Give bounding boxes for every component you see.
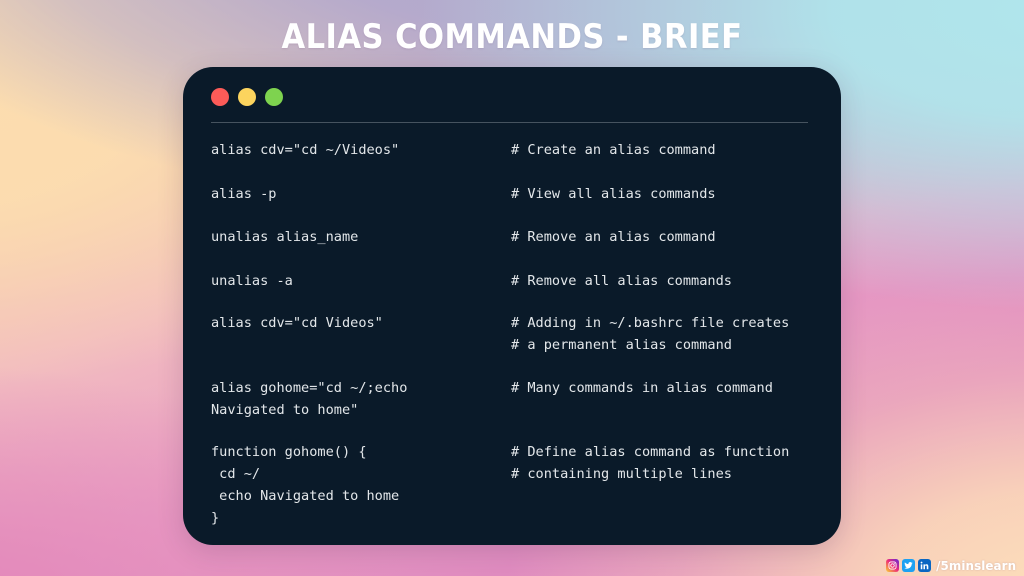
command-text: function gohome() { cd ~/ echo Navigated…	[211, 441, 399, 529]
twitter-icon[interactable]	[902, 559, 915, 572]
linkedin-icon[interactable]	[918, 559, 931, 572]
comment-text: # Define alias command as function # con…	[511, 441, 789, 485]
maximize-button[interactable]	[265, 88, 283, 106]
comment-text: # Remove an alias command	[511, 226, 716, 248]
instagram-icon[interactable]	[886, 559, 899, 572]
command-text: alias gohome="cd ~/;echo Navigated to ho…	[211, 377, 407, 421]
comment-text: # Create an alias command	[511, 139, 716, 161]
comment-text: # Adding in ~/.bashrc file creates # a p…	[511, 312, 789, 356]
command-text: unalias -a	[211, 270, 293, 292]
slide-canvas: ALIAS COMMANDS - BRIEF alias cdv="cd ~/V…	[0, 0, 1024, 576]
comment-text: # Remove all alias commands	[511, 270, 732, 292]
close-button[interactable]	[211, 88, 229, 106]
code-listing: alias cdv="cd ~/Videos"# Create an alias…	[183, 131, 841, 545]
command-text: unalias alias_name	[211, 226, 358, 248]
window-controls	[211, 88, 283, 106]
minimize-button[interactable]	[238, 88, 256, 106]
comment-text: # Many commands in alias command	[511, 377, 773, 399]
page-title: ALIAS COMMANDS - BRIEF	[51, 17, 973, 57]
terminal-window: alias cdv="cd ~/Videos"# Create an alias…	[183, 67, 841, 545]
social-handle: /5minslearn	[936, 558, 1016, 573]
command-text: alias -p	[211, 183, 276, 205]
command-text: alias cdv="cd Videos"	[211, 312, 383, 334]
comment-text: # View all alias commands	[511, 183, 716, 205]
command-text: alias cdv="cd ~/Videos"	[211, 139, 399, 161]
watermark: /5minslearn	[886, 558, 1018, 573]
titlebar-divider	[211, 122, 808, 123]
